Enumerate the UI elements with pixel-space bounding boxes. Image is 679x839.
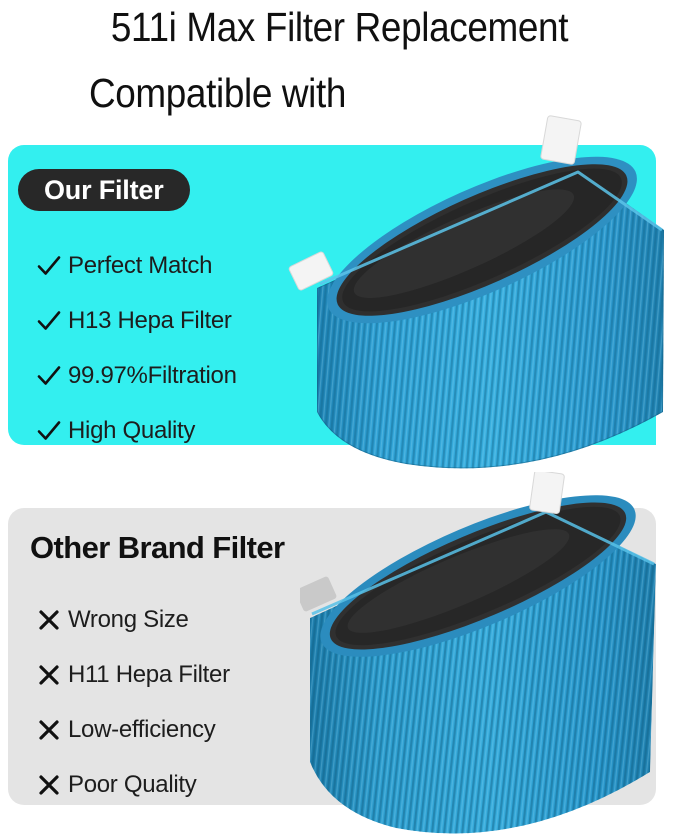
check-icon xyxy=(30,363,68,389)
list-item-label: Perfect Match xyxy=(68,252,212,280)
other-brand-filter-heading: Other Brand Filter xyxy=(30,532,284,563)
list-item-label: H11 Hepa Filter xyxy=(68,661,230,689)
check-icon xyxy=(30,418,68,444)
other-brand-feature-list: Wrong Size H11 Hepa Filter Low-efficienc… xyxy=(30,592,230,805)
list-item-label: Poor Quality xyxy=(68,771,196,799)
cross-icon xyxy=(30,608,68,632)
list-item: Perfect Match xyxy=(30,238,237,293)
list-item: H11 Hepa Filter xyxy=(30,647,230,702)
list-item: Low-efficiency xyxy=(30,702,230,757)
list-item-label: 99.97%Filtration xyxy=(68,362,237,390)
list-item: Wrong Size xyxy=(30,592,230,647)
check-icon xyxy=(30,308,68,334)
page-title-line-2: Compatible with xyxy=(0,68,523,118)
list-item: High Quality xyxy=(30,403,237,445)
cross-icon xyxy=(30,773,68,797)
list-item: Poor Quality xyxy=(30,757,230,805)
cross-icon xyxy=(30,718,68,742)
our-filter-panel: Our Filter Perfect Match H13 Hepa Filter xyxy=(8,145,656,445)
list-item: H13 Hepa Filter xyxy=(30,293,237,348)
check-icon xyxy=(30,253,68,279)
other-brand-filter-panel: Other Brand Filter Wrong Size H11 Hepa F… xyxy=(8,508,656,805)
page-title-line-1: 511i Max Filter Replacement xyxy=(34,2,645,52)
list-item-label: High Quality xyxy=(68,417,195,445)
cross-icon xyxy=(30,663,68,687)
our-filter-badge: Our Filter xyxy=(18,169,190,211)
our-filter-feature-list: Perfect Match H13 Hepa Filter 99.97%Filt… xyxy=(30,238,237,445)
our-filter-badge-label: Our Filter xyxy=(44,177,164,204)
list-item: 99.97%Filtration xyxy=(30,348,237,403)
list-item-label: H13 Hepa Filter xyxy=(68,307,232,335)
list-item-label: Wrong Size xyxy=(68,606,189,634)
list-item-label: Low-efficiency xyxy=(68,716,215,744)
product-comparison-infographic: 511i Max Filter Replacement Compatible w… xyxy=(0,0,679,839)
